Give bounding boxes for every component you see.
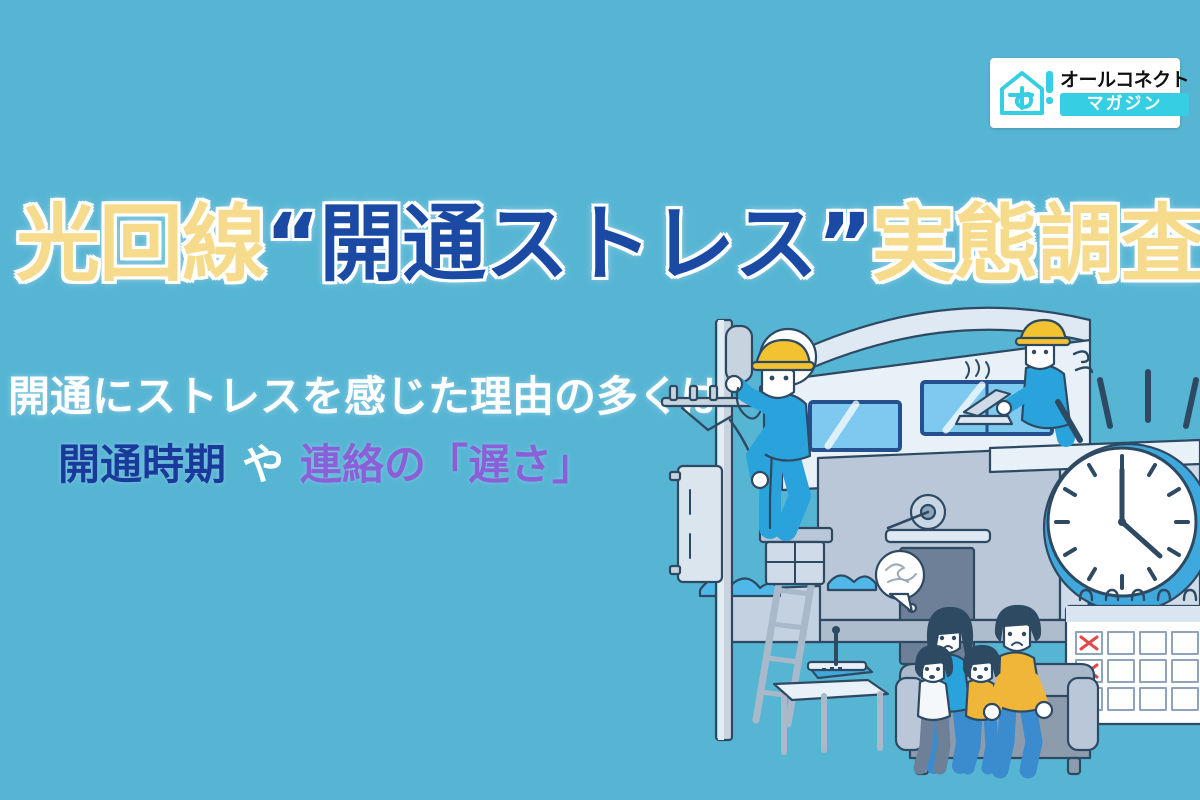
site-logo[interactable]: オールコネクト マガジン (990, 58, 1180, 128)
logo-sub-text: マガジン (1062, 96, 1187, 113)
wifi-router-on-table (774, 626, 888, 752)
page-title: 光回線 “ 開通ストレス ” 実態調査 (16, 196, 1186, 292)
subtitle-line-1: 開通にストレスを感じた理由の多くは (8, 372, 722, 422)
headline-part-3: 実態調査 (871, 202, 1200, 286)
headline-quote-close: ” (817, 202, 871, 286)
headline-quote-open: “ (265, 202, 319, 286)
headline-part-1: 光回線 (16, 202, 265, 286)
house-a-exclamation-logo-icon (996, 63, 1058, 123)
subtitle-conjunction: や (226, 440, 300, 490)
subtitle-emphasis-delay: 連絡の「遅さ」 (300, 440, 594, 490)
logo-sub-badge: マガジン (1060, 93, 1189, 116)
subtitle-line-2: 開通時期 や 連絡の「遅さ」 (58, 440, 594, 490)
headline-part-2: 開通ストレス (319, 202, 817, 286)
logo-top-text: オールコネクト (1060, 71, 1189, 90)
subtitle-emphasis-timing: 開通時期 (58, 440, 226, 490)
hero-illustration (660, 290, 1200, 800)
